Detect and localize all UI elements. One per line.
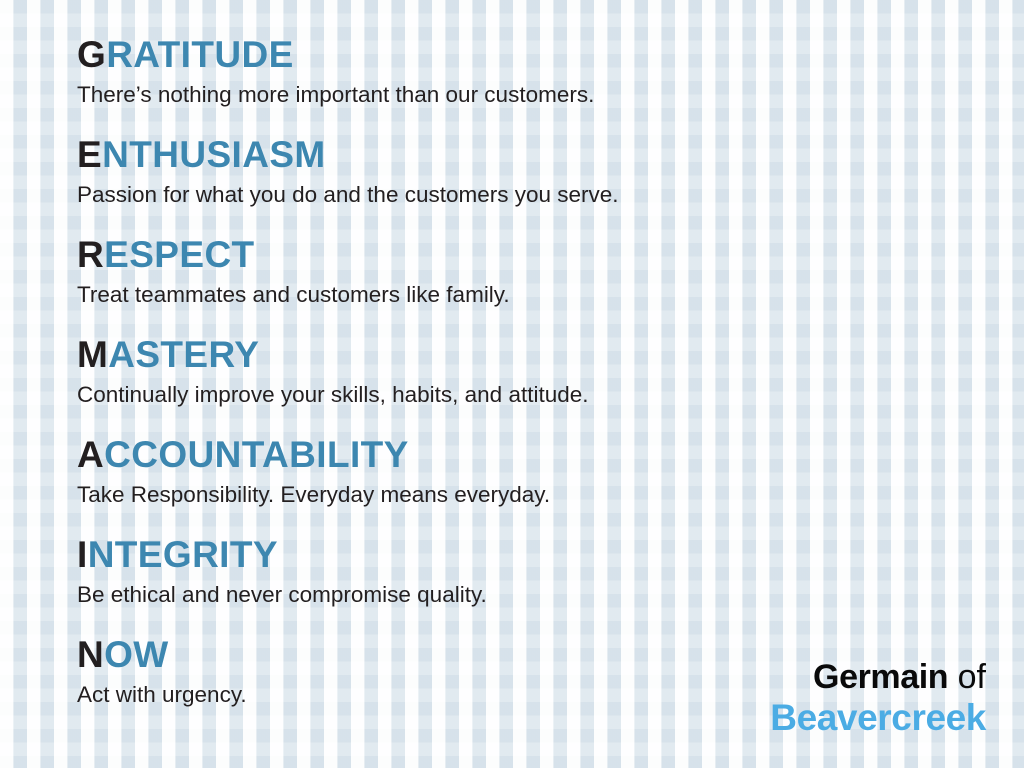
value-remainder-text: RATITUDE <box>106 34 294 75</box>
logo-top-line: Germain of <box>770 660 986 694</box>
value-initial-letter: G <box>77 34 106 75</box>
dealership-logo: Germain of Beavercreek <box>770 660 986 736</box>
logo-connector-word: of <box>948 658 986 696</box>
value-block-gratitude: GRATITUDE There’s nothing more important… <box>77 36 977 136</box>
value-description-accountability: Take Responsibility. Everyday means ever… <box>77 483 977 507</box>
value-heading-respect: RESPECT <box>77 236 977 274</box>
value-remainder-text: ASTERY <box>108 334 259 375</box>
value-heading-gratitude: GRATITUDE <box>77 36 977 74</box>
value-remainder-text: NTHUSIASM <box>102 134 326 175</box>
logo-brand-name: Germain <box>813 658 948 696</box>
value-block-enthusiasm: ENTHUSIASM Passion for what you do and t… <box>77 136 977 236</box>
value-initial-letter: E <box>77 134 102 175</box>
slide-root: { "slide": { "title": "GERMAIN Core Valu… <box>0 0 1024 768</box>
value-description-respect: Treat teammates and customers like famil… <box>77 283 977 307</box>
slide-content: GRATITUDE There’s nothing more important… <box>0 0 1024 768</box>
value-description-gratitude: There’s nothing more important than our … <box>77 83 977 107</box>
value-block-respect: RESPECT Treat teammates and customers li… <box>77 236 977 336</box>
value-initial-letter: M <box>77 334 108 375</box>
value-description-mastery: Continually improve your skills, habits,… <box>77 383 977 407</box>
value-remainder-text: ESPECT <box>104 234 254 275</box>
value-block-integrity: INTEGRITY Be ethical and never compromis… <box>77 536 977 636</box>
value-heading-accountability: ACCOUNTABILITY <box>77 436 977 474</box>
value-heading-integrity: INTEGRITY <box>77 536 977 574</box>
value-description-enthusiasm: Passion for what you do and the customer… <box>77 183 977 207</box>
value-remainder-text: NTEGRITY <box>88 534 278 575</box>
value-heading-enthusiasm: ENTHUSIASM <box>77 136 977 174</box>
value-block-mastery: MASTERY Continually improve your skills,… <box>77 336 977 436</box>
logo-location-name: Beavercreek <box>770 699 986 736</box>
value-heading-mastery: MASTERY <box>77 336 977 374</box>
value-remainder-text: CCOUNTABILITY <box>104 434 409 475</box>
value-initial-letter: R <box>77 234 104 275</box>
value-block-accountability: ACCOUNTABILITY Take Responsibility. Ever… <box>77 436 977 536</box>
core-values-list: GRATITUDE There’s nothing more important… <box>77 36 977 736</box>
value-initial-letter: I <box>77 534 88 575</box>
value-description-integrity: Be ethical and never compromise quality. <box>77 583 977 607</box>
value-initial-letter: A <box>77 434 104 475</box>
value-initial-letter: N <box>77 634 104 675</box>
value-remainder-text: OW <box>104 634 169 675</box>
